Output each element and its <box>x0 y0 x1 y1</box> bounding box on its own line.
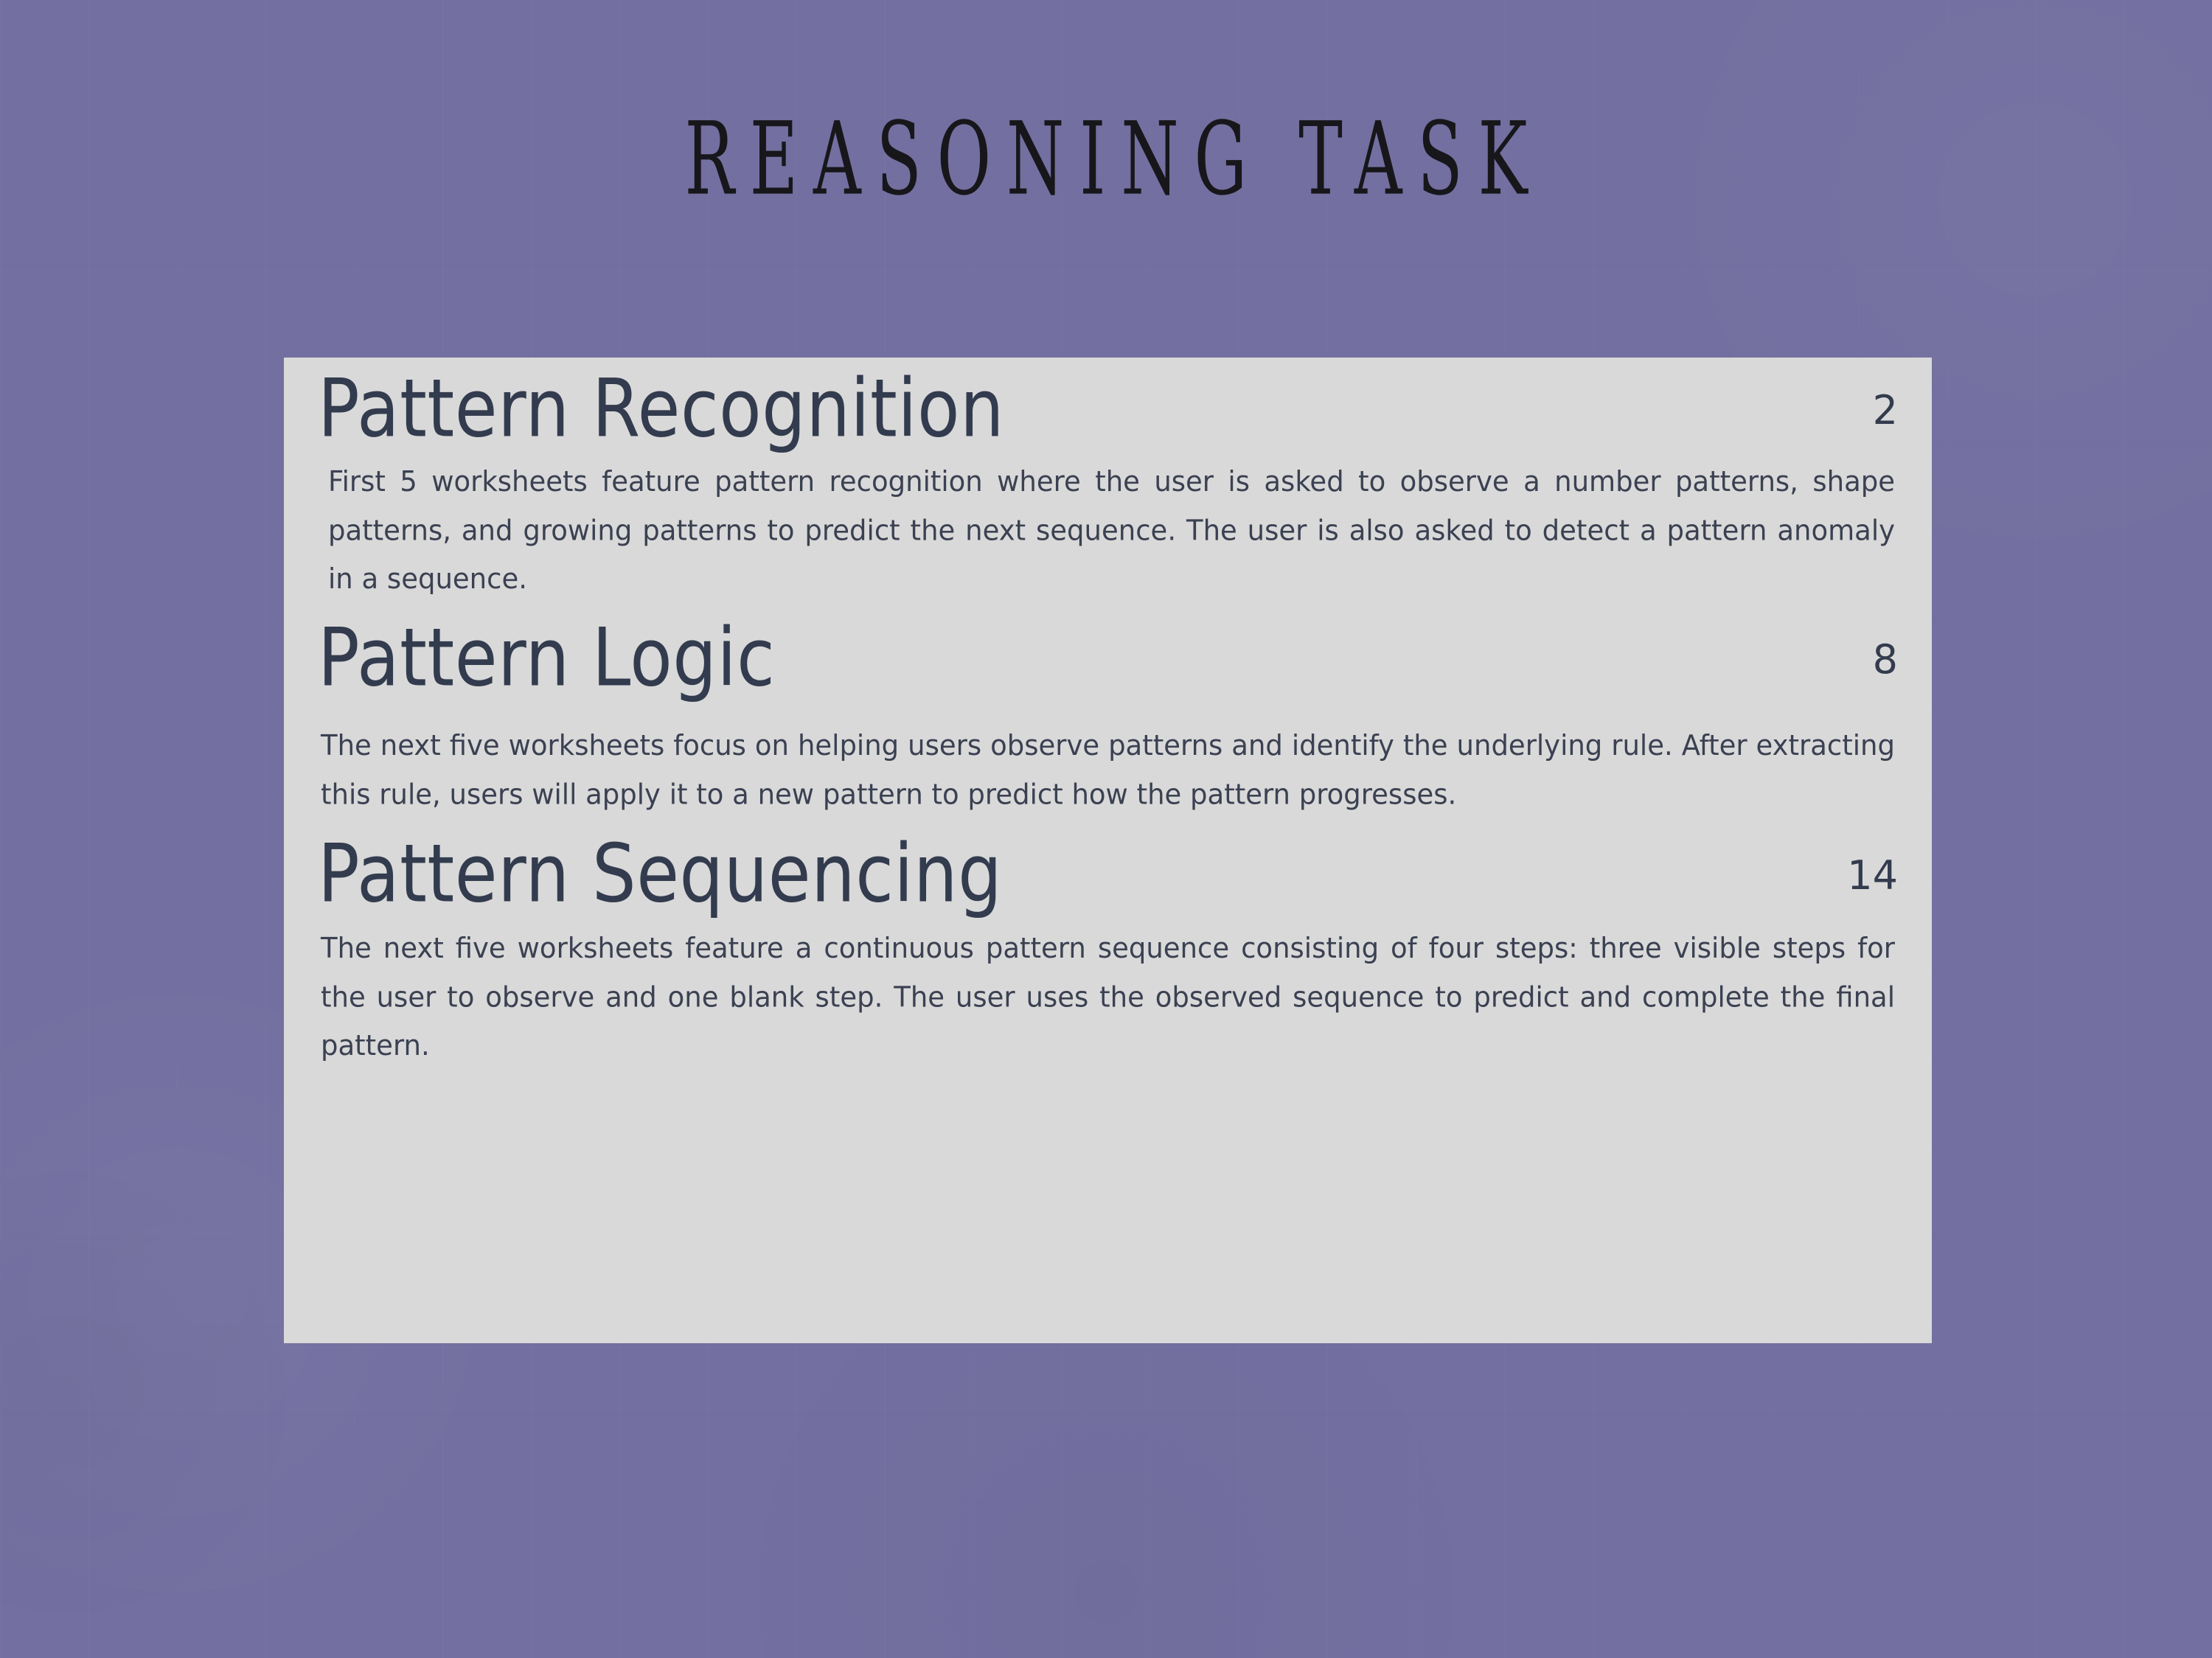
toc-leader-dashes: ________________________________________… <box>775 658 1871 683</box>
toc-entry-pattern-recognition[interactable]: Pattern Recognition ____________________… <box>318 377 1898 598</box>
toc-entry-page-number: 2 <box>1872 391 1898 431</box>
toc-entry-description: The next five worksheets feature a conti… <box>318 924 1898 1070</box>
toc-entry-headline: Pattern Sequencing _____________________… <box>318 842 1898 919</box>
toc-leader-dashes: ________________________________________… <box>1004 408 1872 433</box>
toc-entry-title: Pattern Sequencing <box>318 829 1002 919</box>
toc-entry-headline: Pattern Recognition ____________________… <box>318 377 1898 454</box>
toc-entry-title: Pattern Recognition <box>318 364 1004 454</box>
toc-entry-pattern-sequencing[interactable]: Pattern Sequencing _____________________… <box>318 842 1898 1065</box>
toc-entry-description: First 5 worksheets feature pattern recog… <box>318 457 1898 604</box>
page-title: REASONING TASK <box>221 109 1991 210</box>
toc-entry-description: The next five worksheets focus on helpin… <box>318 721 1898 818</box>
toc-entry-page-number: 14 <box>1846 856 1898 896</box>
table-of-contents-card: Pattern Recognition ____________________… <box>284 358 1932 1343</box>
toc-leader-dashes: ________________________________________… <box>1002 874 1846 899</box>
toc-entry-title: Pattern Logic <box>318 613 775 703</box>
toc-entry-headline: Pattern Logic __________________________… <box>318 626 1898 703</box>
toc-entry-pattern-logic[interactable]: Pattern Logic __________________________… <box>318 626 1898 815</box>
toc-entry-page-number: 8 <box>1872 640 1898 680</box>
